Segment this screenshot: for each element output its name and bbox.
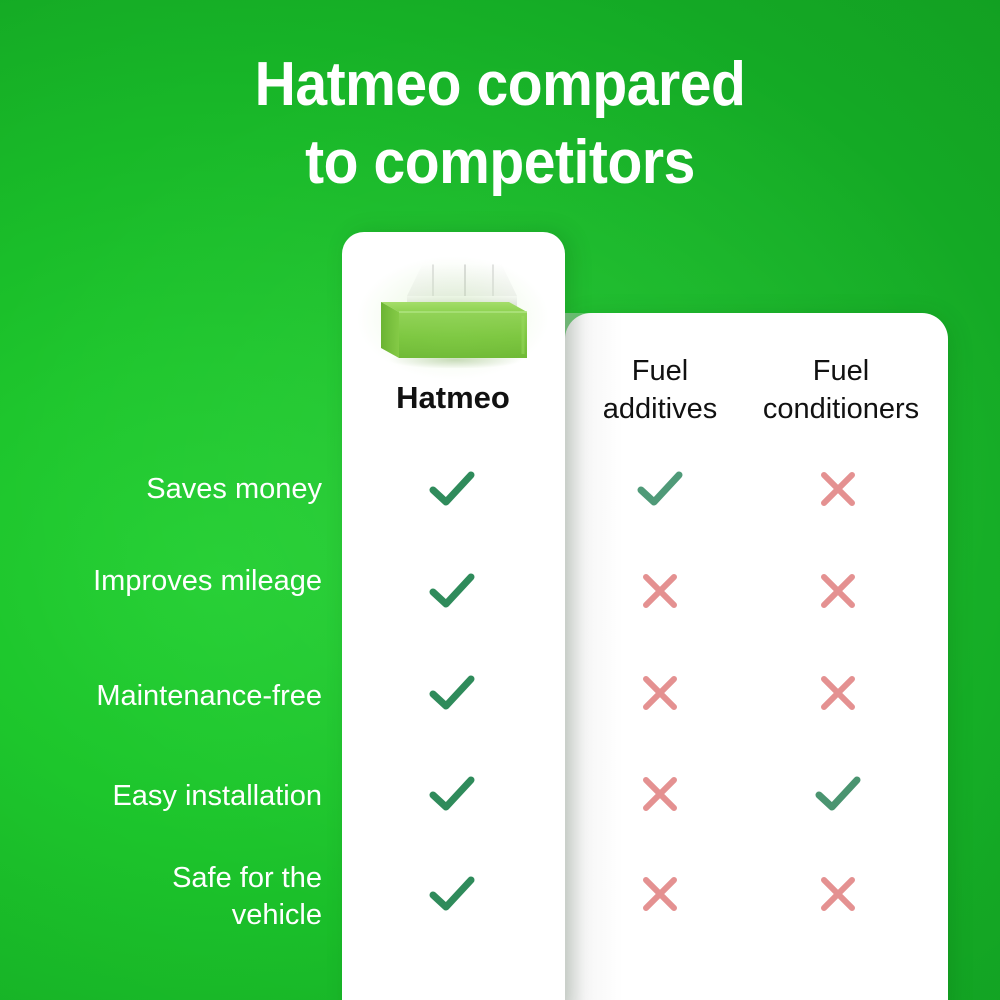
column-header-fuel-additives: Fuel additives [572, 352, 748, 428]
page-title: Hatmeo compared to competitors [40, 46, 960, 202]
cell-fuel-additives-safe-for-the-vehicle [630, 864, 690, 924]
cell-fuel-conditioners-maintenance-free [808, 663, 868, 723]
row-label-improves-mileage: Improves mileage [20, 563, 322, 600]
cell-fuel-conditioners-safe-for-the-vehicle [808, 864, 868, 924]
cross-icon [808, 459, 868, 519]
cross-icon [808, 864, 868, 924]
hatmeo-device-image [371, 250, 535, 368]
check-icon [422, 561, 482, 621]
row-label-easy-installation: Easy installation [20, 778, 322, 815]
check-icon [422, 764, 482, 824]
column-header-fuel-conditioners: Fuel conditioners [748, 352, 934, 428]
check-icon [422, 663, 482, 723]
check-icon [630, 459, 690, 519]
cross-icon [808, 561, 868, 621]
row-label-saves-money: Saves money [20, 471, 322, 508]
cross-icon [630, 864, 690, 924]
check-icon [808, 764, 868, 824]
cell-fuel-additives-easy-installation [630, 764, 690, 824]
cell-hatmeo-improves-mileage [422, 561, 482, 621]
cell-fuel-additives-improves-mileage [630, 561, 690, 621]
cross-icon [630, 764, 690, 824]
check-icon [422, 459, 482, 519]
cell-hatmeo-maintenance-free [422, 663, 482, 723]
cell-hatmeo-saves-money [422, 459, 482, 519]
row-label-safe-for-the-vehicle: Safe for the vehicle [20, 860, 322, 934]
cell-fuel-conditioners-improves-mileage [808, 561, 868, 621]
cross-icon [630, 663, 690, 723]
comparison-infographic: Hatmeo compared to competitors [0, 0, 1000, 1000]
column-header-hatmeo: Hatmeo [353, 380, 553, 416]
cell-fuel-conditioners-easy-installation [808, 764, 868, 824]
cell-fuel-conditioners-saves-money [808, 459, 868, 519]
cell-hatmeo-easy-installation [422, 764, 482, 824]
cell-fuel-additives-saves-money [630, 459, 690, 519]
cross-icon [630, 561, 690, 621]
row-label-maintenance-free: Maintenance-free [20, 678, 322, 715]
cell-fuel-additives-maintenance-free [630, 663, 690, 723]
cell-hatmeo-safe-for-the-vehicle [422, 864, 482, 924]
cross-icon [808, 663, 868, 723]
check-icon [422, 864, 482, 924]
device-glow [357, 256, 549, 380]
